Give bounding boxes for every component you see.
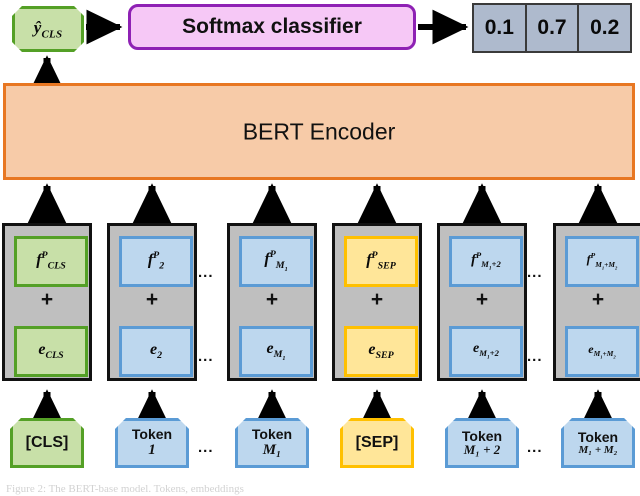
position-feature-cell: fPCLS xyxy=(14,236,88,287)
position-feature-cell: fPM1+M2 xyxy=(565,236,639,287)
ellipsis-icon: ... xyxy=(527,440,543,455)
token-embedding-label: eCLS xyxy=(38,342,63,361)
input-token: Token 1 xyxy=(115,418,189,468)
position-feature-label: fPM1+M2 xyxy=(587,252,618,270)
ycls-label: ŷCLS xyxy=(34,18,63,40)
token-embedding-label: eM1+2 xyxy=(473,342,499,361)
plus-icon: + xyxy=(556,288,640,312)
input-token-label: [CLS] xyxy=(26,434,69,452)
input-token: [CLS] xyxy=(10,418,84,468)
position-feature-cell: fPSEP xyxy=(344,236,418,287)
position-feature-label: fPM1+2 xyxy=(471,251,501,273)
input-token-index: 1 xyxy=(148,442,156,459)
token-embedding-label: eSEP xyxy=(368,342,393,361)
token-embedding-cell: eSEP xyxy=(344,326,418,377)
softmax-classifier-block: Softmax classifier xyxy=(128,4,416,50)
probability-cell: 0.1 xyxy=(472,3,527,53)
position-feature-cell: fPM1 xyxy=(239,236,313,287)
softmax-classifier-label: Softmax classifier xyxy=(182,15,362,39)
ellipsis-icon: ... xyxy=(198,440,214,455)
probability-cell: 0.2 xyxy=(577,3,632,53)
ycls-output-node: ŷCLS xyxy=(12,6,84,52)
position-feature-label: fP2 xyxy=(148,251,164,271)
input-token: Token M₁ + 2 xyxy=(445,418,519,468)
position-feature-label: fPCLS xyxy=(36,251,66,271)
embedding-column: fPM1+M2 + eM1+M2 xyxy=(553,223,640,381)
figure-canvas: ŷCLS Softmax classifier 0.1 0.7 0.2 BERT… xyxy=(0,0,640,496)
input-token: Token M₁ xyxy=(235,418,309,468)
input-token: [SEP] xyxy=(340,418,414,468)
input-token-index: M₁ + 2 xyxy=(464,443,501,457)
embedding-column: fP2 + e2 xyxy=(107,223,197,381)
position-feature-label: fPM1 xyxy=(264,250,287,273)
figure-caption: Figure 2: The BERT-base model. Tokens, e… xyxy=(6,483,634,495)
embedding-column: fPCLS + eCLS xyxy=(2,223,92,381)
position-feature-cell: fP2 xyxy=(119,236,193,287)
input-token-label: Token xyxy=(578,430,618,445)
token-embedding-label: eM1+M2 xyxy=(588,343,615,360)
plus-icon: + xyxy=(5,288,89,312)
token-embedding-cell: eM1+M2 xyxy=(565,326,639,377)
ellipsis-icon: ... xyxy=(527,349,543,364)
token-embedding-cell: eCLS xyxy=(14,326,88,377)
probability-cell: 0.7 xyxy=(525,3,580,53)
embedding-column: fPM1+2 + eM1+2 xyxy=(437,223,527,381)
token-embedding-cell: eM1+2 xyxy=(449,326,523,377)
ellipsis-icon: ... xyxy=(198,265,214,280)
bert-encoder-block: BERT Encoder xyxy=(3,83,635,180)
token-embedding-cell: eM1 xyxy=(239,326,313,377)
position-feature-label: fPSEP xyxy=(366,251,396,271)
input-token-index: M₁ + M₂ xyxy=(579,444,618,456)
plus-icon: + xyxy=(335,288,419,312)
embedding-column: fPSEP + eSEP xyxy=(332,223,422,381)
input-token-label: Token xyxy=(132,427,172,442)
token-embedding-label: eM1 xyxy=(267,341,286,362)
probability-vector: 0.1 0.7 0.2 xyxy=(472,3,632,53)
input-token-label: Token xyxy=(462,429,502,444)
input-token-index: M₁ xyxy=(263,442,282,459)
ellipsis-icon: ... xyxy=(198,349,214,364)
input-token-label: [SEP] xyxy=(356,434,399,452)
plus-icon: + xyxy=(110,288,194,312)
plus-icon: + xyxy=(440,288,524,312)
input-token: Token M₁ + M₂ xyxy=(561,418,635,468)
ellipsis-icon: ... xyxy=(527,265,543,280)
position-feature-cell: fPM1+2 xyxy=(449,236,523,287)
token-embedding-label: e2 xyxy=(150,342,162,361)
bert-encoder-label: BERT Encoder xyxy=(6,118,632,145)
input-token-label: Token xyxy=(252,427,292,442)
embedding-column: fPM1 + eM1 xyxy=(227,223,317,381)
plus-icon: + xyxy=(230,288,314,312)
token-embedding-cell: e2 xyxy=(119,326,193,377)
arrows-layer xyxy=(0,0,640,496)
